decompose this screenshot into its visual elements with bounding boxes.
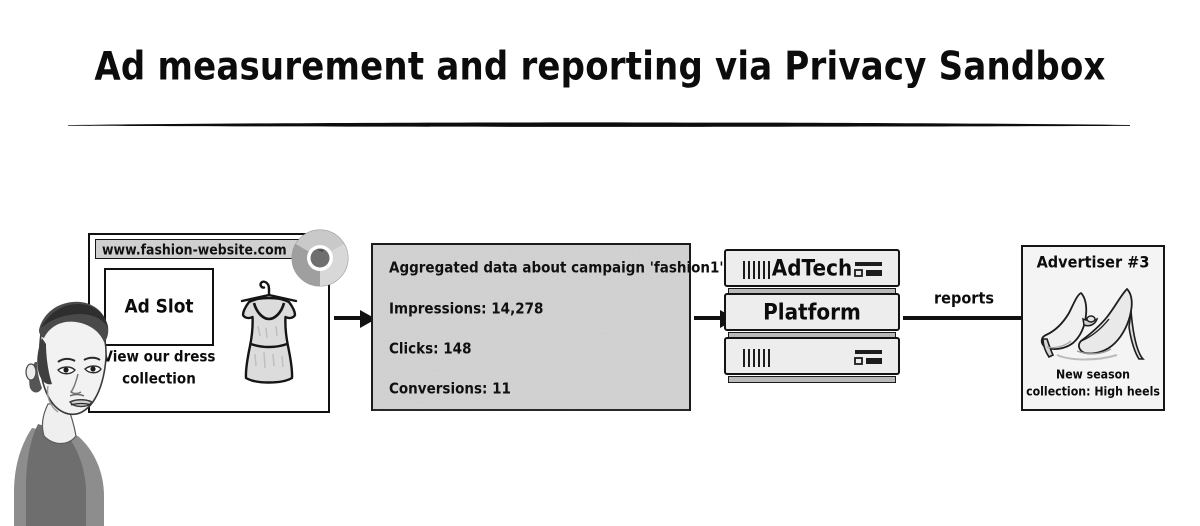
adtech-platform-server-stack: AdTech Platform [718,249,906,401]
title-divider [68,122,1130,127]
person-portrait-sketch [8,296,124,526]
adtech-label: AdTech [724,255,900,281]
ad-slot-label: Ad Slot [124,296,193,318]
aggregated-data-panel: Aggregated data about campaign 'fashion1… [371,243,691,411]
server-unit-bottom [724,337,900,375]
server-plate [728,376,896,383]
aggregated-data-heading: Aggregated data about campaign 'fashion1… [389,259,689,277]
url-text: www.fashion-website.com [102,241,287,258]
high-heels-icon [1031,279,1155,363]
platform-label: Platform [724,299,900,325]
metric-conversions: Conversions: 11 [389,380,689,398]
reports-connector-line [903,316,1025,320]
metric-impressions: Impressions: 14,278 [389,300,689,318]
chrome-logo-icon [291,229,349,287]
reports-label: reports [903,290,1025,308]
page-title: Ad measurement and reporting via Privacy… [0,44,1200,90]
advertiser-title: Advertiser #3 [1023,254,1163,272]
url-bar[interactable]: www.fashion-website.com [95,239,300,259]
advertiser-caption: New season collection: High heels [1025,366,1161,400]
metric-clicks: Clicks: 148 [389,340,689,358]
arrow-right-icon [334,306,376,332]
advertiser-card: Advertiser #3 New season collection: Hig… [1021,245,1165,411]
server-vents-icon [742,348,776,368]
server-leds-icon [854,349,884,367]
